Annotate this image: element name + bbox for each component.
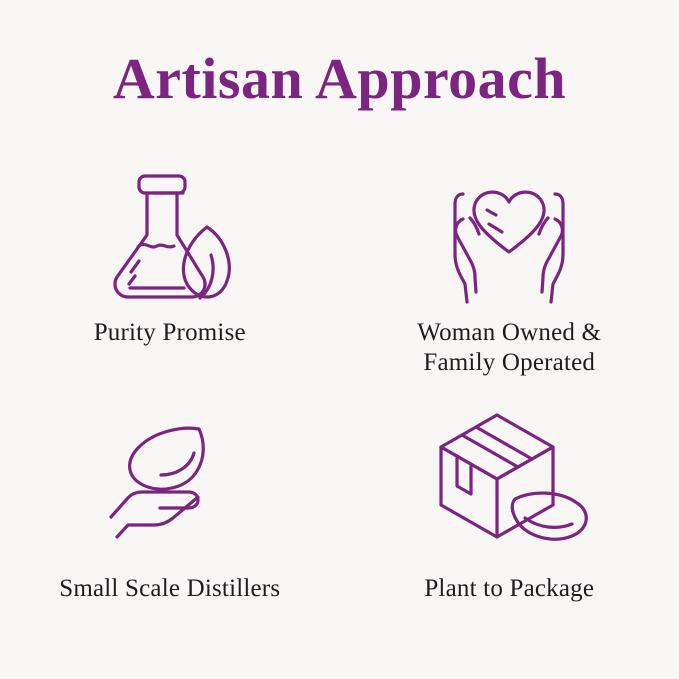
feature-grid: Purity Promise xyxy=(0,150,679,650)
feature-label: Plant to Package xyxy=(424,574,594,604)
feature-item-purity-promise: Purity Promise xyxy=(0,150,340,400)
feature-label: Purity Promise xyxy=(94,318,246,348)
flask-leaf-icon xyxy=(80,164,260,304)
hands-heart-icon xyxy=(419,164,599,304)
feature-item-plant-to-package: Plant to Package xyxy=(340,400,679,650)
page-title: Artisan Approach xyxy=(0,47,679,111)
feature-label: Woman Owned & Family Operated xyxy=(417,318,601,378)
feature-label: Small Scale Distillers xyxy=(59,574,280,604)
feature-item-small-scale: Small Scale Distillers xyxy=(0,400,340,650)
hand-leaf-icon xyxy=(80,414,260,554)
artisan-approach-graphic: Artisan Approach xyxy=(0,0,679,679)
feature-item-woman-owned: Woman Owned & Family Operated xyxy=(340,150,679,400)
box-leaf-icon xyxy=(419,414,599,554)
